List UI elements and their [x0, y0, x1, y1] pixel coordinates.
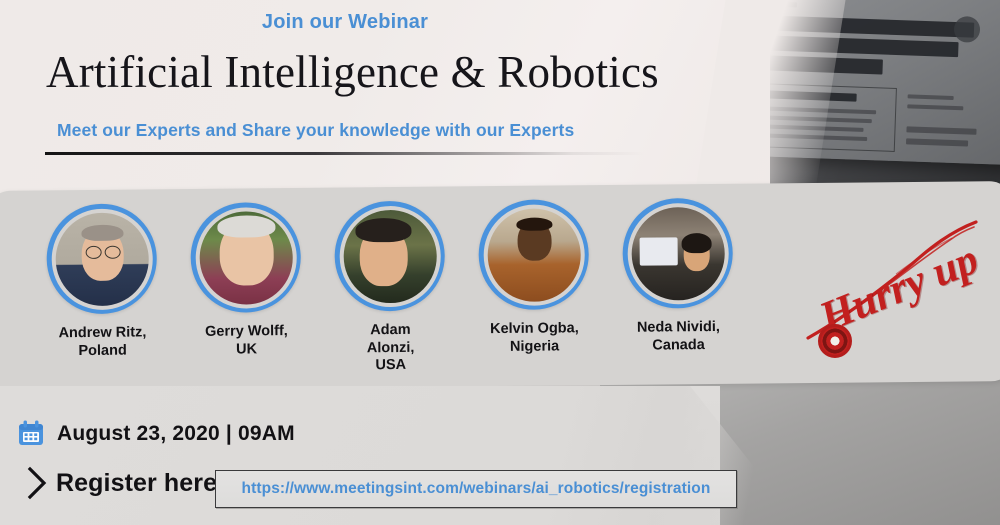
chevron-right-icon: [26, 466, 48, 500]
speaker-location-text: Poland: [78, 342, 126, 358]
speaker-card-5[interactable]: Neda Nividi, Canada: [607, 198, 748, 356]
speaker-name: Andrew Ritz, Poland: [32, 324, 172, 361]
avatar-gap: [483, 204, 585, 306]
webinar-date: August 23, 2020 | 09AM: [57, 422, 295, 446]
speaker-location-text: Alonzi,: [367, 340, 415, 356]
speakers-band: Andrew Ritz, Poland Gerry Wolff, UK: [0, 181, 1000, 391]
avatar: [55, 212, 149, 306]
speaker-name-text: Adam: [370, 322, 410, 338]
speaker-location-text: Canada: [652, 337, 705, 354]
speaker-card-1[interactable]: Andrew Ritz, Poland: [31, 203, 172, 361]
speaker-name-text: Kelvin Ogba,: [490, 320, 579, 337]
avatar-gap: [51, 208, 153, 310]
avatar-gap: [195, 206, 297, 308]
register-label: Register here: [56, 469, 217, 498]
avatar: [487, 208, 581, 302]
speaker-name-text: Neda Nividi,: [637, 319, 720, 336]
webinar-poster: Join our Webinar Artificial Intelligence…: [0, 0, 1000, 525]
registration-url-box[interactable]: https://www.meetingsint.com/webinars/ai_…: [215, 470, 737, 508]
speaker-name: Gerry Wolff, UK: [176, 323, 316, 360]
register-row[interactable]: Register here: [26, 466, 217, 500]
speaker-country-text: USA: [375, 357, 406, 373]
speaker-name: Neda Nividi, Canada: [608, 319, 748, 356]
speaker-name-text: Gerry Wolff,: [205, 323, 288, 340]
speaker-card-3[interactable]: Adam Alonzi, USA: [319, 200, 461, 375]
avatar-ring: [190, 202, 301, 313]
registration-url[interactable]: https://www.meetingsint.com/webinars/ai_…: [242, 480, 711, 498]
speaker-name-text: Andrew Ritz,: [58, 324, 146, 341]
avatar: [343, 209, 437, 303]
speakers-list: Andrew Ritz, Poland Gerry Wolff, UK: [0, 181, 1000, 391]
avatar-ring: [622, 198, 733, 309]
avatar: [631, 206, 725, 300]
page-title: Artificial Intelligence & Robotics: [46, 46, 706, 98]
calendar-icon: [16, 419, 46, 449]
avatar-ring: [478, 199, 589, 310]
subtitle-text: Meet our Experts and Share your knowledg…: [57, 120, 574, 141]
avatar-ring: [46, 203, 157, 314]
speaker-location-text: UK: [236, 341, 257, 357]
avatar-ring: [334, 201, 445, 312]
kicker-text: Join our Webinar: [0, 11, 690, 34]
avatar-gap: [339, 205, 441, 307]
speaker-name: Adam Alonzi, USA: [320, 321, 461, 375]
speaker-card-2[interactable]: Gerry Wolff, UK: [175, 202, 316, 360]
header-divider: [45, 152, 645, 155]
speaker-card-4[interactable]: Kelvin Ogba, Nigeria: [463, 199, 604, 357]
avatar-gap: [627, 202, 729, 304]
avatar: [199, 211, 293, 305]
speaker-location-text: Nigeria: [510, 338, 559, 354]
speaker-name: Kelvin Ogba, Nigeria: [464, 320, 604, 357]
date-row: August 23, 2020 | 09AM: [16, 419, 295, 449]
